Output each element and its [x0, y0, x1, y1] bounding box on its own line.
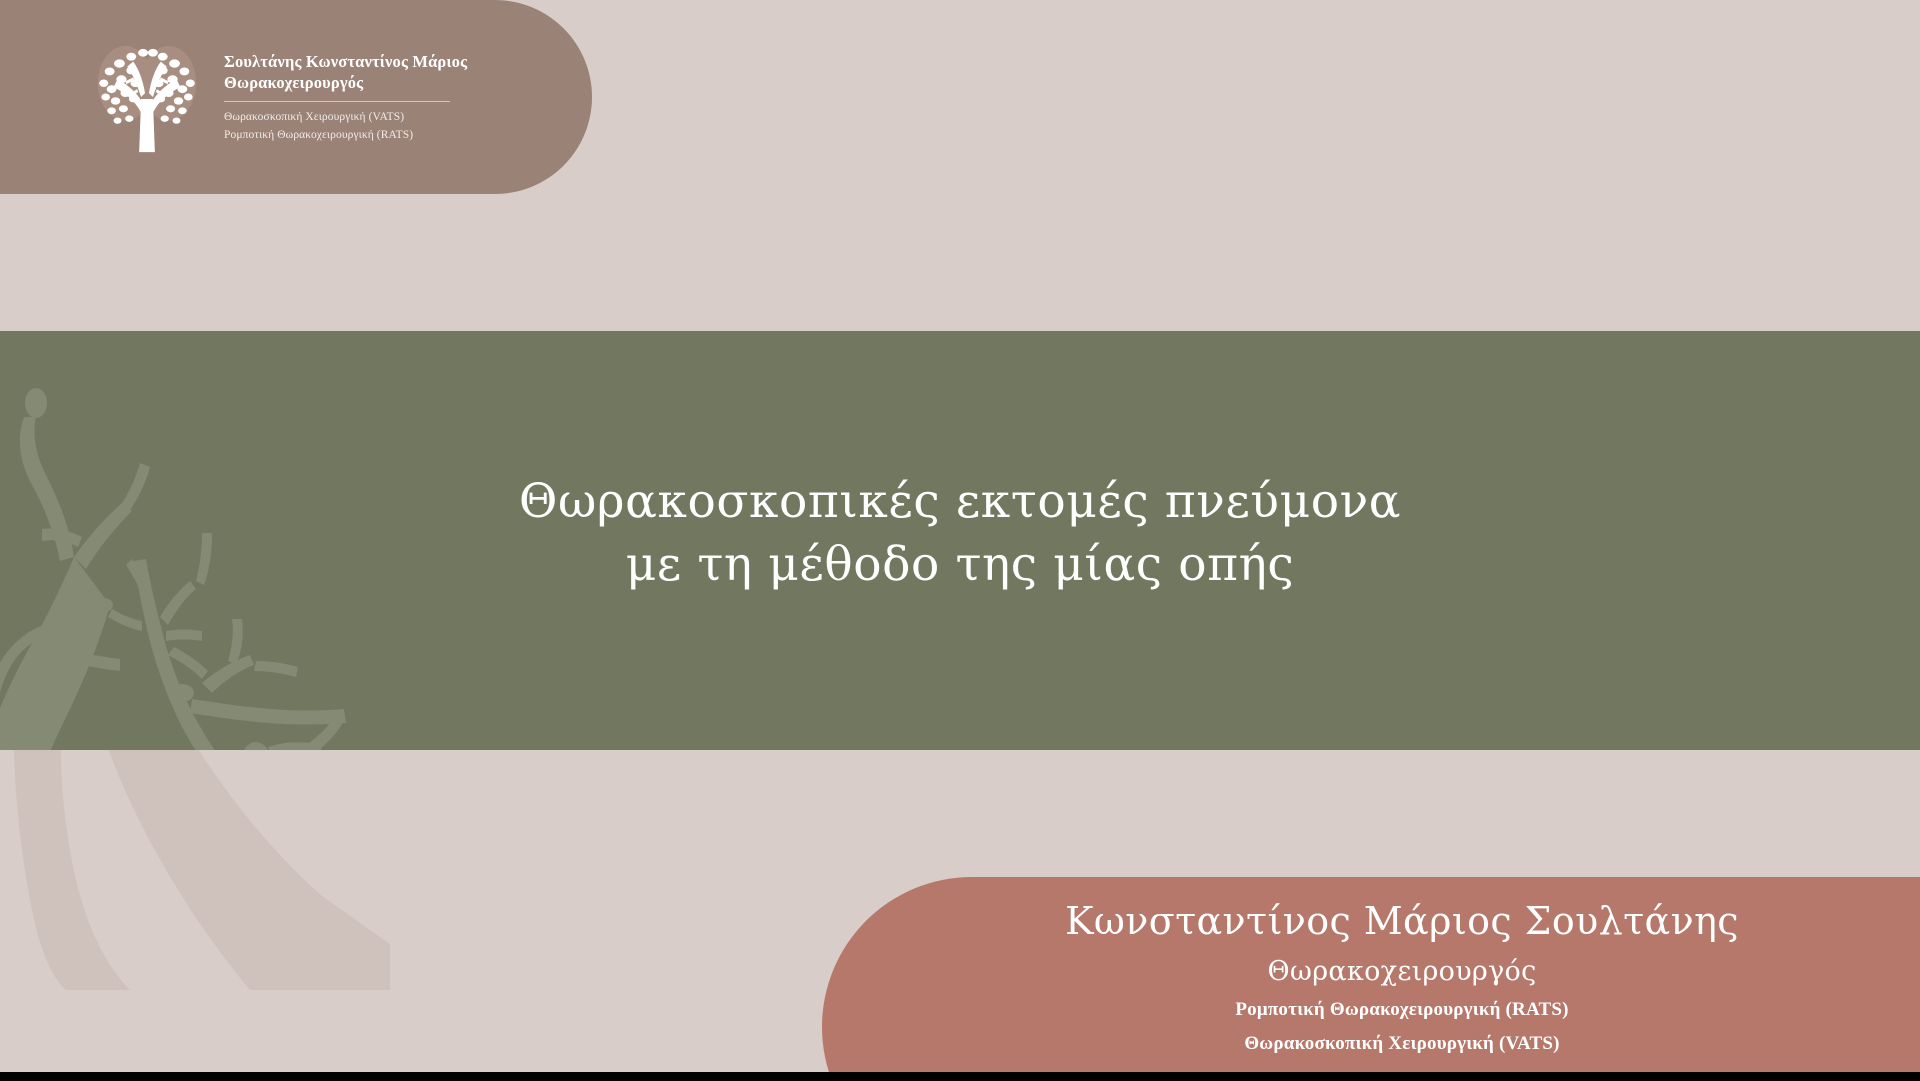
title-line-1: Θωρακοσκοπικές εκτομές πνεύμονα	[519, 471, 1401, 533]
speaker-name: Κωνσταντίνος Μάριος Σουλτάνης	[942, 899, 1862, 944]
logo-header-bar: Σουλτάνης Κωνσταντίνος Μάριος Θωρακοχειρ…	[0, 0, 592, 194]
speaker-info-pill: Κωνσταντίνος Μάριος Σουλτάνης Θωρακοχειρ…	[822, 877, 1920, 1072]
title-line-2: με τη μέθοδο της μίας οπής	[626, 534, 1295, 596]
slide-surface: Σουλτάνης Κωνσταντίνος Μάριος Θωρακοχειρ…	[0, 0, 1920, 1072]
speaker-role: Θωρακοχειρουργός	[942, 956, 1862, 988]
lung-tree-logo-icon	[88, 38, 206, 156]
speaker-credential-vats: Θωρακοσκοπική Χειρουργική (VATS)	[942, 1031, 1862, 1056]
logo-credential-vats: Θωρακοσκοπική Χειρουργική (VATS)	[224, 109, 467, 127]
speaker-credential-rats: Ρομποτική Θωρακοχειρουργική (RATS)	[942, 997, 1862, 1022]
presentation-slide: Σουλτάνης Κωνσταντίνος Μάριος Θωρακοχειρ…	[0, 0, 1920, 1081]
bottom-letterbox-strip	[0, 1072, 916, 1081]
logo-doctor-role: Θωρακοχειρουργός	[224, 72, 467, 93]
slide-title: Θωρακοσκοπικές εκτομές πνεύμονα με τη μέ…	[0, 331, 1920, 750]
logo-doctor-name: Σουλτάνης Κωνσταντίνος Μάριος	[224, 51, 467, 72]
logo-credential-rats: Ρομποτική Θωρακοχειρουργική (RATS)	[224, 127, 467, 145]
title-band: Θωρακοσκοπικές εκτομές πνεύμονα με τη μέ…	[0, 331, 1920, 750]
logo-text-block: Σουλτάνης Κωνσταντίνος Μάριος Θωρακοχειρ…	[224, 49, 467, 145]
logo-divider	[224, 101, 450, 102]
